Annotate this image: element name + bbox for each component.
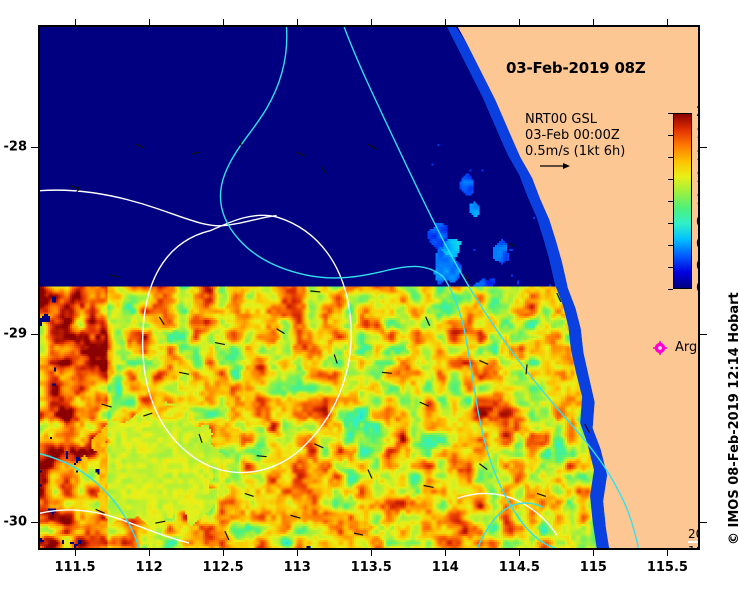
colorbar-tick-label: 2: [696, 105, 700, 120]
y-axis-tick-right: [700, 522, 707, 523]
x-axis-tick-label: 111.5: [54, 560, 95, 575]
colorbar-tick-label: 0: [696, 281, 700, 296]
y-axis-tick: [31, 147, 38, 148]
x-axis-tick-label: 112: [135, 560, 162, 575]
colorbar-tick-label: 0.75: [696, 215, 700, 230]
colorbar-tick-label: 1.25: [696, 171, 700, 186]
x-axis-tick: [667, 550, 668, 556]
y-axis-tick-right: [700, 147, 707, 148]
y-axis-tick-label: -30: [0, 514, 27, 529]
annotation-source: NRT00 GSL: [525, 112, 625, 128]
colorbar-tick: [668, 201, 673, 202]
x-axis-tick-top: [445, 19, 446, 25]
y-axis-tick-label: -28: [0, 139, 27, 154]
colorbar-tick-label: 1: [696, 193, 700, 208]
colorbar-tick: [668, 267, 673, 268]
colorbar-tick: [668, 223, 673, 224]
x-axis-tick: [593, 550, 594, 556]
colorbar-tick: [668, 113, 673, 114]
argo-marker-icon: [653, 341, 667, 355]
x-axis-tick: [75, 550, 76, 556]
x-axis-tick-label: 115.5: [647, 560, 688, 575]
depth-legend: 200m 1000m: [688, 527, 700, 550]
colorbar-tick-label: 1.5: [696, 149, 700, 164]
annotation-scale: 0.5m/s (1kt 6h): [525, 144, 625, 160]
depth-200m-label: 200m: [688, 527, 700, 541]
colorbar-tick-label: 1.75: [696, 127, 700, 142]
x-axis-tick-label: 113: [284, 560, 311, 575]
x-axis-tick-label: 115: [580, 560, 607, 575]
x-axis-tick: [371, 550, 372, 556]
current-annotation-block: NRT00 GSL 03-Feb 00:00Z 0.5m/s (1kt 6h): [525, 112, 625, 160]
colorbar-tick: [668, 157, 673, 158]
credit-text: © IMOS 08-Feb-2019 12:14 Hobart: [727, 292, 739, 545]
x-axis-tick-top: [149, 19, 150, 25]
x-axis-tick-top: [371, 19, 372, 25]
map-plot-area[interactable]: 03-Feb-2019 08Z NRT00 GSL 03-Feb 00:00Z …: [38, 25, 700, 550]
colorbar-tick: [668, 289, 673, 290]
x-axis-tick: [519, 550, 520, 556]
depth-200m-line-swatch: [688, 541, 700, 543]
colorbar-tick: [668, 245, 673, 246]
y-axis-tick: [31, 334, 38, 335]
y-axis-tick-label: -29: [0, 327, 27, 342]
x-axis-tick-top: [519, 19, 520, 25]
plot-title: 03-Feb-2019 08Z: [506, 59, 646, 77]
x-axis-tick-top: [667, 19, 668, 25]
depth-1000m-label: 1000m: [688, 544, 700, 550]
y-axis-tick-right: [700, 334, 707, 335]
annotation-valid-time: 03-Feb 00:00Z: [525, 128, 625, 144]
colorbar-tick-label: 0.25: [696, 259, 700, 274]
x-axis-tick-top: [223, 19, 224, 25]
x-axis-tick: [297, 550, 298, 556]
x-axis-tick: [223, 550, 224, 556]
x-axis-tick-top: [297, 19, 298, 25]
colorbar-tick: [668, 135, 673, 136]
colorbar-tick-label: 0.5: [696, 237, 700, 252]
x-axis-tick: [149, 550, 150, 556]
argo-legend-label: Argo: [675, 340, 700, 355]
figure-canvas: 03-Feb-2019 08Z NRT00 GSL 03-Feb 00:00Z …: [0, 0, 739, 592]
x-axis-tick-label: 114.5: [499, 560, 540, 575]
colorbar-gradient: [673, 113, 692, 289]
x-axis-tick-top: [75, 19, 76, 25]
colorbar: 21.751.51.2510.750.50.250: [673, 113, 692, 289]
x-axis-tick-label: 113.5: [351, 560, 392, 575]
x-axis-tick: [445, 550, 446, 556]
argo-legend: Argo: [653, 340, 700, 355]
y-axis-tick: [31, 522, 38, 523]
current-vector-field: [40, 27, 698, 548]
colorbar-tick: [668, 179, 673, 180]
vector-scale-arrow-icon: [539, 160, 571, 172]
x-axis-tick-label: 112.5: [203, 560, 244, 575]
x-axis-tick-top: [593, 19, 594, 25]
x-axis-tick-label: 114: [432, 560, 459, 575]
